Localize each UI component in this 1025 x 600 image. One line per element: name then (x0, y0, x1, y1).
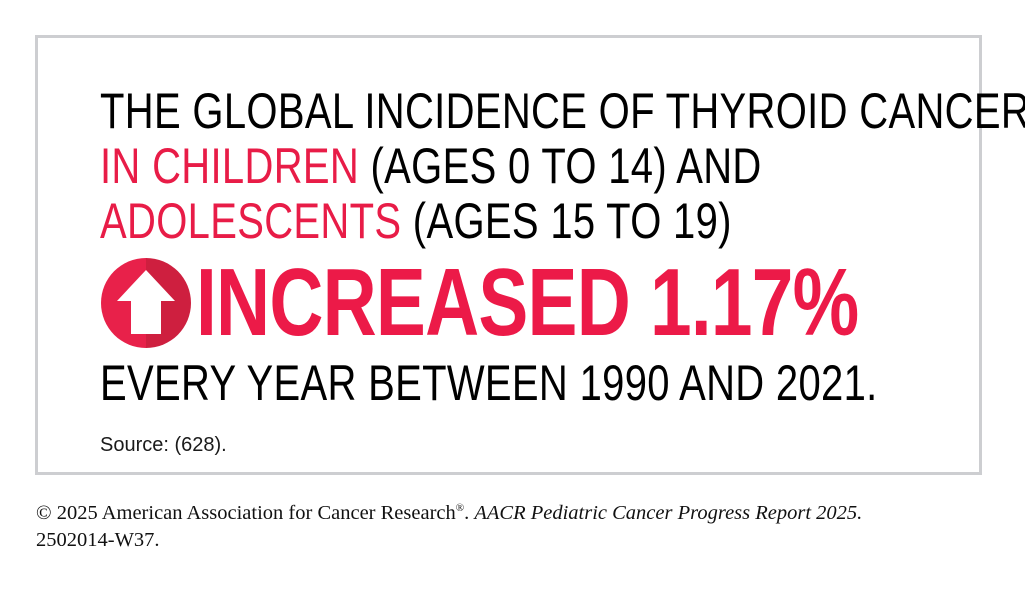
headline-line-1: THE GLOBAL INCIDENCE OF THYROID CANCER (100, 84, 787, 139)
registered-mark-icon: ® (456, 502, 464, 514)
headline-highlight-children: IN CHILDREN (100, 138, 359, 194)
statistic-row: INCREASED 1.17% (100, 257, 959, 349)
headline-line-2-rest: (AGES 0 TO 14) AND (359, 138, 762, 194)
card-content: THE GLOBAL INCIDENCE OF THYROID CANCER I… (100, 84, 959, 457)
footer-separator: . (464, 502, 474, 524)
up-arrow-in-circle-icon (100, 257, 192, 349)
headline-line-3-rest: (AGES 15 TO 19) (401, 193, 731, 249)
statistic-text: INCREASED 1.17% (196, 257, 858, 349)
infographic-card: THE GLOBAL INCIDENCE OF THYROID CANCER I… (35, 35, 982, 475)
headline-line-2: IN CHILDREN (AGES 0 TO 14) AND (100, 139, 787, 194)
headline-line-3: ADOLESCENTS (AGES 15 TO 19) (100, 194, 787, 249)
footer-credit: © 2025 American Association for Cancer R… (36, 500, 996, 554)
headline-highlight-adolescents: ADOLESCENTS (100, 193, 401, 249)
source-label: Source: (628). (100, 433, 959, 457)
footer-line-1: © 2025 American Association for Cancer R… (36, 500, 996, 527)
footer-line-2: 2502014-W37. (36, 527, 996, 554)
footer-copyright-text: © 2025 American Association for Cancer R… (36, 502, 456, 524)
footer-report-title: AACR Pediatric Cancer Progress Report 20… (474, 502, 862, 524)
headline-line-bottom: EVERY YEAR BETWEEN 1990 AND 2021. (100, 355, 787, 411)
headline-block: THE GLOBAL INCIDENCE OF THYROID CANCER I… (100, 84, 787, 249)
